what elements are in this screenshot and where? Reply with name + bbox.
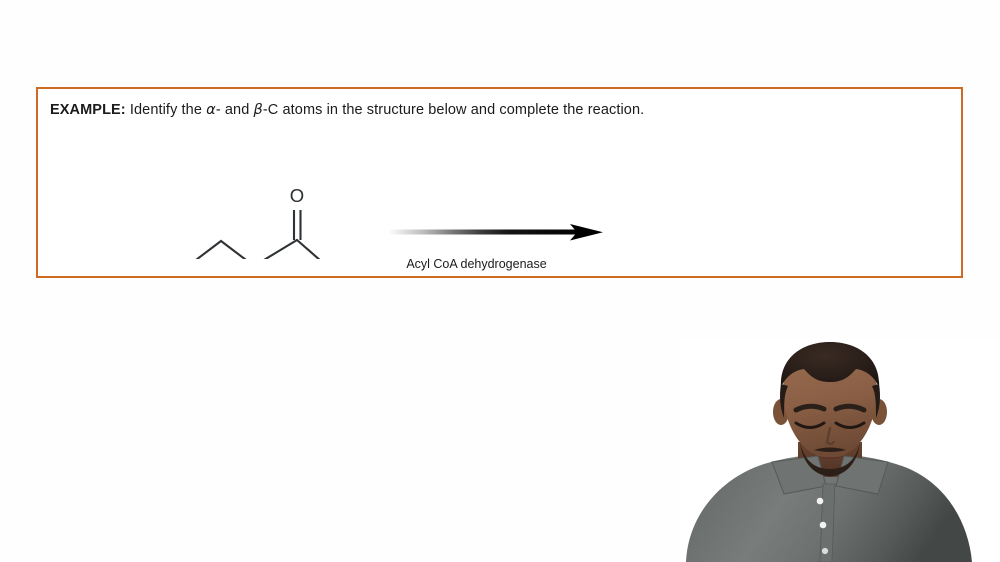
carbon-chain-bonds <box>188 240 321 259</box>
shirt-button-bottom <box>822 548 828 554</box>
arrow-shaft <box>388 230 583 235</box>
example-prompt: EXAMPLE: Identify the α- and β-C atoms i… <box>50 102 644 118</box>
carbonyl-oxygen-label: O <box>290 185 304 206</box>
instructor-portrait <box>680 338 1000 562</box>
shirt-button-middle <box>820 522 827 529</box>
beta-symbol: β <box>254 102 263 118</box>
instructor-video-overlay[interactable] <box>680 338 1000 562</box>
arrow-label: Acyl CoA dehydrogenase <box>369 257 584 271</box>
lesson-slide: EXAMPLE: Identify the α- and β-C atoms i… <box>0 0 1000 562</box>
reaction-arrow <box>358 222 618 246</box>
shirt-button-top <box>817 498 824 505</box>
prompt-text-3: -C atoms in the structure below and comp… <box>263 102 644 118</box>
example-label: EXAMPLE: <box>50 102 126 118</box>
prompt-text-2: - and <box>216 102 254 118</box>
example-problem-card: EXAMPLE: Identify the α- and β-C atoms i… <box>36 87 963 278</box>
carbonyl-double-bond <box>294 210 301 240</box>
reaction-arrow-group <box>358 222 618 246</box>
reaction-scheme: O S-CoA <box>38 134 961 274</box>
prompt-text-1: Identify the <box>126 102 206 118</box>
alpha-symbol: α <box>206 102 216 118</box>
